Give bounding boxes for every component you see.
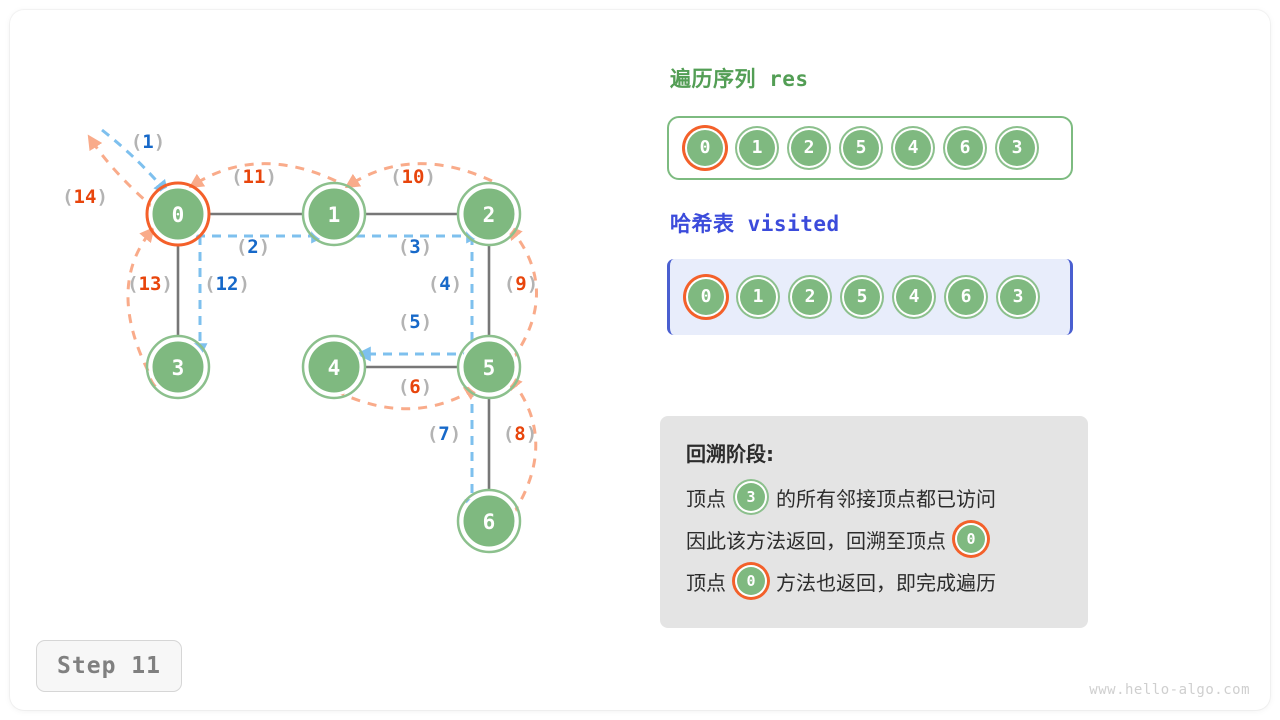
res-cell-1[interactable]: 1 — [737, 128, 777, 168]
graph-vertex-1[interactable]: 1 — [303, 183, 365, 245]
visited-cell-1[interactable]: 1 — [738, 277, 778, 317]
step-label-11: (11) — [231, 166, 277, 188]
res-cell-3[interactable]: 5 — [841, 128, 881, 168]
illustration-canvas: 0 1 2 3 4 — [0, 0, 1280, 720]
explanation-heading: 回溯阶段: — [686, 438, 1062, 467]
graph-vertex-6-label: 6 — [483, 510, 496, 534]
graph-vertex-5[interactable]: 5 — [458, 336, 520, 398]
graph-vertex-2-label: 2 — [483, 203, 496, 227]
step-label-9: (9) — [504, 273, 538, 295]
step-label-12: (12) — [204, 273, 250, 295]
explanation-line-3: 顶点 0 方法也返回，即完成遍历 — [686, 565, 1062, 597]
explanation-line-1-post: 的所有邻接顶点都已访问 — [776, 483, 996, 512]
visited-cell-4[interactable]: 4 — [894, 277, 934, 317]
step-label-10: (10) — [390, 166, 436, 188]
explanation-line-3-pre: 顶点 — [686, 567, 726, 596]
step-label-2: (2) — [236, 236, 270, 258]
graph-vertices: 0 1 2 3 4 — [147, 183, 520, 552]
explanation-line-2-vertex-chip: 0 — [955, 523, 987, 555]
res-panel-title: 遍历序列 res — [670, 63, 809, 93]
res-cell-5[interactable]: 6 — [945, 128, 985, 168]
step-label-7: (7) — [427, 423, 461, 445]
graph-vertex-0-label: 0 — [172, 203, 185, 227]
visited-cell-2[interactable]: 2 — [790, 277, 830, 317]
step-badge: Step 11 — [36, 640, 182, 692]
graph-vertex-0[interactable]: 0 — [147, 183, 209, 245]
visited-cell-0[interactable]: 0 — [686, 277, 726, 317]
graph-vertex-2[interactable]: 2 — [458, 183, 520, 245]
graph-vertex-3[interactable]: 3 — [147, 336, 209, 398]
res-cell-2[interactable]: 2 — [789, 128, 829, 168]
graph-diagram: 0 1 2 3 4 — [40, 110, 640, 590]
graph-vertex-1-label: 1 — [328, 203, 341, 227]
graph-vertex-3-label: 3 — [172, 356, 185, 380]
graph-vertex-4-label: 4 — [328, 356, 341, 380]
step-label-5: (5) — [398, 311, 432, 333]
explanation-line-3-vertex-chip: 0 — [735, 565, 767, 597]
visited-panel-title: 哈希表 visited — [670, 208, 840, 238]
graph-step-labels: (1) (2) (3) (4) (5) (6) (7) (8) (9) (10)… — [62, 131, 538, 445]
graph-vertex-4[interactable]: 4 — [303, 336, 365, 398]
explanation-line-1: 顶点 3 的所有邻接顶点都已访问 — [686, 481, 1062, 513]
explanation-line-2-pre: 因此该方法返回，回溯至顶点 — [686, 525, 946, 554]
visited-cell-5[interactable]: 6 — [946, 277, 986, 317]
step-label-1: (1) — [131, 131, 165, 153]
graph-vertex-6[interactable]: 6 — [458, 490, 520, 552]
res-cell-0[interactable]: 0 — [685, 128, 725, 168]
explanation-line-2: 因此该方法返回，回溯至顶点 0 — [686, 523, 1062, 555]
visited-hashset: 0 1 2 5 4 6 3 — [667, 259, 1073, 335]
explanation-line-1-vertex-chip: 3 — [735, 481, 767, 513]
site-watermark: www.hello-algo.com — [1089, 682, 1250, 698]
step-label-3: (3) — [398, 236, 432, 258]
graph-vertex-5-label: 5 — [483, 356, 496, 380]
step-label-6: (6) — [398, 376, 432, 398]
step-label-8: (8) — [503, 423, 537, 445]
res-cell-4[interactable]: 4 — [893, 128, 933, 168]
backtrack-arrow-8 — [510, 378, 536, 514]
visited-cell-3[interactable]: 5 — [842, 277, 882, 317]
step-label-4: (4) — [428, 273, 462, 295]
explanation-line-3-post: 方法也返回，即完成遍历 — [776, 567, 996, 596]
explanation-line-1-pre: 顶点 — [686, 483, 726, 512]
step-label-14: (14) — [62, 186, 108, 208]
step-label-13: (13) — [127, 273, 173, 295]
res-array: 0 1 2 5 4 6 3 — [667, 116, 1073, 180]
explanation-panel: 回溯阶段: 顶点 3 的所有邻接顶点都已访问 因此该方法返回，回溯至顶点 0 顶… — [660, 416, 1088, 628]
visited-cell-6[interactable]: 3 — [998, 277, 1038, 317]
res-cell-6[interactable]: 3 — [997, 128, 1037, 168]
